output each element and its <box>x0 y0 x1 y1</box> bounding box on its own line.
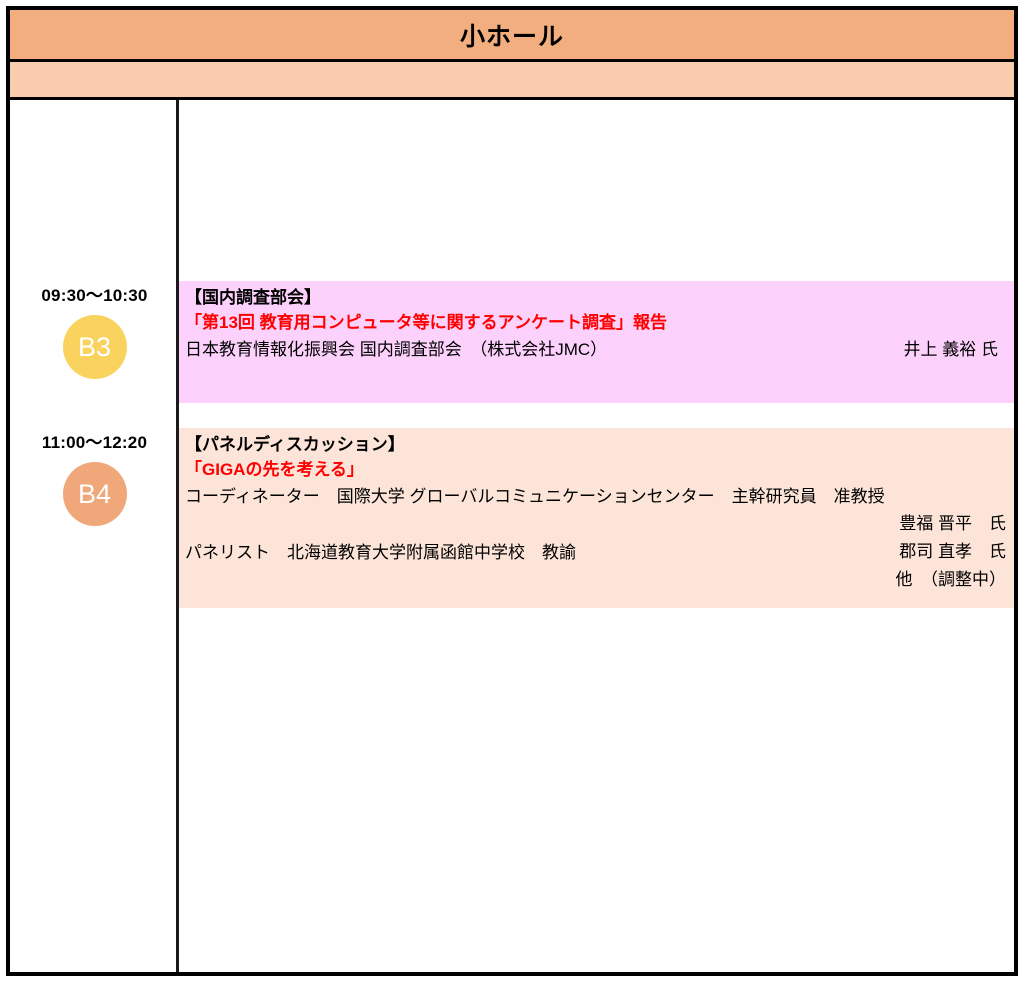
session-panelist-line-b4: パネリスト 北海道教育大学附属函館中学校 教諭 <box>185 539 1006 567</box>
session-coordinator-text-b4: コーディネーター 国際大学 グローバルコミュニケーションセンター 主幹研究員 准… <box>185 487 885 506</box>
time-cell-b3: 09:30〜10:30 B3 <box>10 281 179 379</box>
time-column: 09:30〜10:30 B3 11:00〜12:20 B4 <box>10 100 179 972</box>
session-coordinator-name-b4: 豊福 晋平 氏 <box>899 510 1006 538</box>
session-line-spacer-b4 <box>185 511 1006 539</box>
hall-title-bar: 小ホール <box>10 10 1014 62</box>
session-category-b4: 【パネルディスカッション】 <box>185 432 1006 457</box>
session-title-b3: 「第13回 教育用コンピュータ等に関するアンケート調査」報告 <box>185 310 1006 336</box>
session-line-spacer2-b4 <box>185 567 1006 595</box>
content-column: 【国内調査部会】 「第13回 教育用コンピュータ等に関するアンケート調査」報告 … <box>179 100 1014 972</box>
session-others-name-b4: 他 （調整中） <box>896 566 1007 594</box>
session-block-b4[interactable]: 【パネルディスカッション】 「GIGAの先を考える」 コーディネーター 国際大学… <box>179 428 1014 608</box>
session-badge-b4: B4 <box>63 462 127 526</box>
session-coordinator-line-b4: コーディネーター 国際大学 グローバルコミュニケーションセンター 主幹研究員 准… <box>185 483 1006 511</box>
session-speaker-b3: 井上 義裕 氏 <box>904 336 998 364</box>
time-label-b4: 11:00〜12:20 <box>10 428 179 453</box>
time-cell-b4: 11:00〜12:20 B4 <box>10 428 179 526</box>
session-category-b3: 【国内調査部会】 <box>185 285 1006 310</box>
session-panelist-name-b4: 郡司 直孝 氏 <box>899 538 1006 566</box>
session-badge-label-b3: B3 <box>78 332 111 363</box>
schedule-table: 小ホール 09:30〜10:30 B3 11:00〜12:20 B4 <box>6 6 1018 976</box>
subheader-strip <box>10 62 1014 100</box>
schedule-body: 09:30〜10:30 B3 11:00〜12:20 B4 【国内調査部会】 「… <box>10 100 1014 972</box>
session-title-b4: 「GIGAの先を考える」 <box>185 457 1006 483</box>
time-label-b3: 09:30〜10:30 <box>10 281 179 306</box>
hall-title-text: 小ホール <box>460 17 564 53</box>
session-panelist-text-b4: パネリスト 北海道教育大学附属函館中学校 教諭 <box>185 543 576 562</box>
session-affiliation-b3: 日本教育情報化振興会 国内調査部会 （株式会社JMC） 井上 義裕 氏 <box>185 336 1006 364</box>
session-badge-label-b4: B4 <box>78 479 111 510</box>
session-badge-b3: B3 <box>63 315 127 379</box>
session-block-b3[interactable]: 【国内調査部会】 「第13回 教育用コンピュータ等に関するアンケート調査」報告 … <box>179 281 1014 403</box>
session-affiliation-text-b3: 日本教育情報化振興会 国内調査部会 （株式会社JMC） <box>185 340 607 359</box>
